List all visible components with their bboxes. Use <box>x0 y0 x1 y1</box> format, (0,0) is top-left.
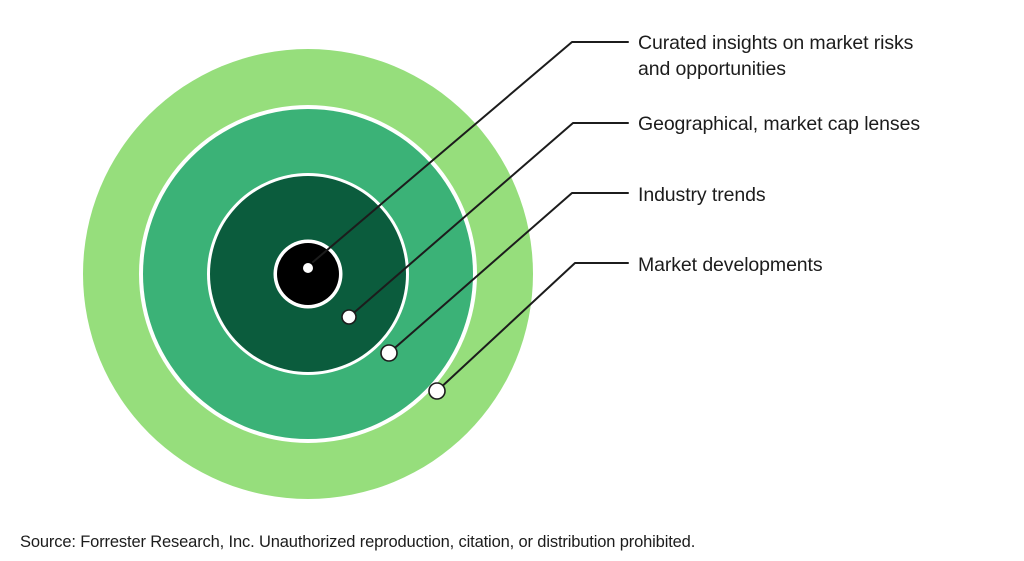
callout-label-curated-insights: Curated insights on market risks and opp… <box>638 30 968 82</box>
leader-dot-industry-trends <box>381 345 397 361</box>
leader-dot-market-developments <box>429 383 445 399</box>
source-note: Source: Forrester Research, Inc. Unautho… <box>20 533 695 552</box>
callout-label-geographical-market-cap: Geographical, market cap lenses <box>638 111 988 137</box>
core-center-dot <box>303 263 313 273</box>
leader-dot-geographical-market-cap <box>342 310 356 324</box>
callout-label-industry-trends: Industry trends <box>638 182 938 208</box>
core-curated-insights[interactable] <box>277 243 339 305</box>
callout-label-market-developments: Market developments <box>638 252 938 278</box>
concentric-circles-diagram <box>0 0 1024 561</box>
